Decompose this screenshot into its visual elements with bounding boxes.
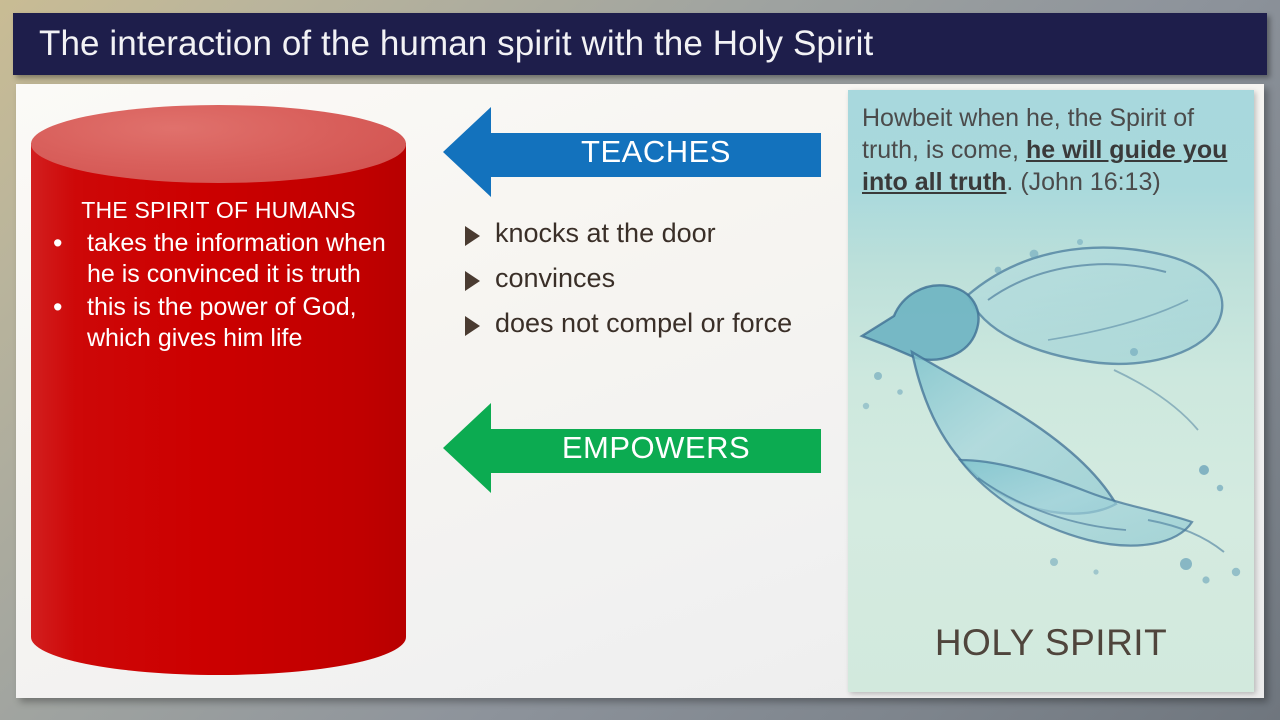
- list-item: this is the power of God, which gives hi…: [49, 292, 392, 353]
- list-item: does not compel or force: [465, 310, 825, 337]
- list-item-label: convinces: [495, 263, 615, 293]
- page-title: The interaction of the human spirit with…: [39, 24, 873, 64]
- list-item: takes the information when he is convinc…: [49, 228, 392, 289]
- scripture-part-2: . (John 16:13): [1006, 168, 1160, 196]
- presentation-slide: The interaction of the human spirit with…: [0, 0, 1280, 720]
- list-item-label: does not compel or force: [495, 308, 792, 338]
- human-spirit-cylinder: THE SPIRIT OF HUMANS takes the informati…: [31, 105, 406, 675]
- empowers-arrow-label: EMPOWERS: [443, 400, 821, 496]
- human-spirit-heading: THE SPIRIT OF HUMANS: [31, 197, 406, 224]
- triangle-right-marker-icon: [465, 316, 480, 336]
- holy-spirit-image-card: Howbeit when he, the Spirit of truth, is…: [848, 90, 1254, 692]
- holy-spirit-caption: HOLY SPIRIT: [848, 622, 1254, 664]
- list-item-label: knocks at the door: [495, 218, 716, 248]
- list-item: convinces: [465, 265, 825, 292]
- teaches-arrow-label: TEACHES: [443, 104, 821, 200]
- empowers-arrow: EMPOWERS: [443, 400, 821, 496]
- list-item: knocks at the door: [465, 220, 825, 247]
- slide-title-bar: The interaction of the human spirit with…: [13, 13, 1267, 75]
- human-spirit-content: THE SPIRIT OF HUMANS takes the informati…: [31, 197, 406, 356]
- middle-column: TEACHES knocks at the door convinces doe…: [440, 100, 835, 500]
- human-spirit-bullet-list: takes the information when he is convinc…: [31, 228, 406, 353]
- triangle-right-marker-icon: [465, 271, 480, 291]
- water-splash-dove-icon: [848, 220, 1254, 640]
- teaches-arrow: TEACHES: [443, 104, 821, 200]
- triangle-right-marker-icon: [465, 226, 480, 246]
- scripture-quote: Howbeit when he, the Spirit of truth, is…: [862, 102, 1240, 198]
- cylinder-top-ellipse: [31, 105, 406, 183]
- holy-spirit-action-list: knocks at the door convinces does not co…: [465, 220, 825, 355]
